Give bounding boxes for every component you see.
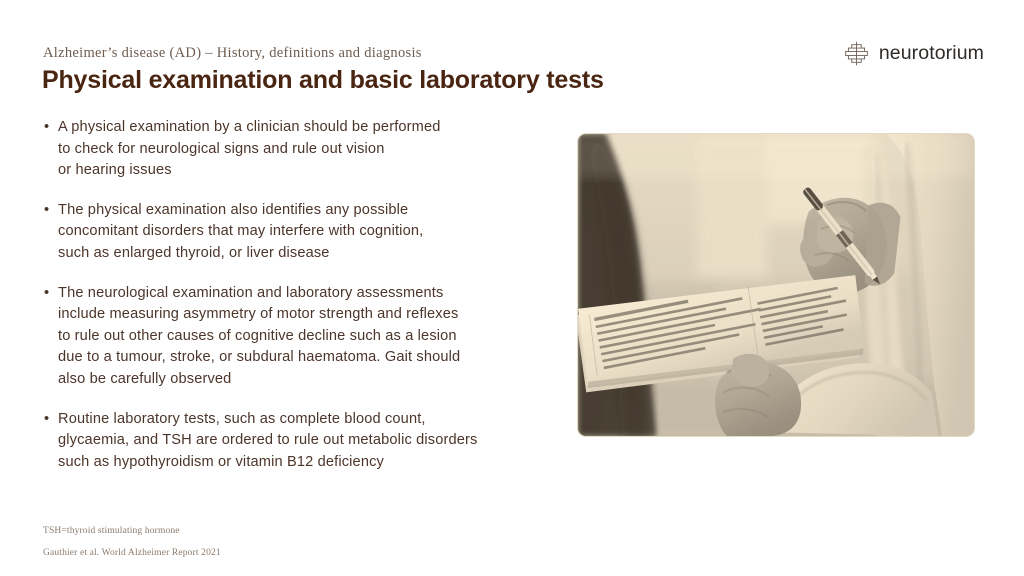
bullet-icon: • <box>44 283 49 305</box>
clinician-writing-on-medical-form-photo <box>577 133 975 437</box>
neuron-logo-icon <box>843 40 870 67</box>
bullet-icon: • <box>44 200 49 222</box>
footnote-abbreviation: TSH=thyroid stimulating hormone <box>43 527 221 537</box>
bullet-icon: • <box>44 409 49 431</box>
bullet-list: • A physical examination by a clinician … <box>42 117 547 473</box>
list-item-text: Routine laboratory tests, such as comple… <box>58 409 547 474</box>
list-item-text: A physical examination by a clinician sh… <box>58 117 547 182</box>
list-item: • Routine laboratory tests, such as comp… <box>42 409 547 474</box>
list-item: • The physical examination also identifi… <box>42 200 547 265</box>
slide-eyebrow-topic: Alzheimer’s disease (AD) – History, defi… <box>43 45 422 62</box>
bullet-icon: • <box>44 117 49 139</box>
footnotes: TSH=thyroid stimulating hormone Gauthier… <box>43 527 221 558</box>
footnote-citation: Gauthier et al. World Alzheimer Report 2… <box>43 549 221 559</box>
slide: Alzheimer’s disease (AD) – History, defi… <box>0 0 1024 576</box>
list-item-text: The neurological examination and laborat… <box>58 283 547 391</box>
brand-logo-text: neurotorium <box>879 44 984 64</box>
page-title: Physical examination and basic laborator… <box>42 66 604 95</box>
brand-logo: neurotorium <box>843 40 984 67</box>
list-item: • The neurological examination and labor… <box>42 283 547 391</box>
list-item: • A physical examination by a clinician … <box>42 117 547 182</box>
list-item-text: The physical examination also identifies… <box>58 200 547 265</box>
